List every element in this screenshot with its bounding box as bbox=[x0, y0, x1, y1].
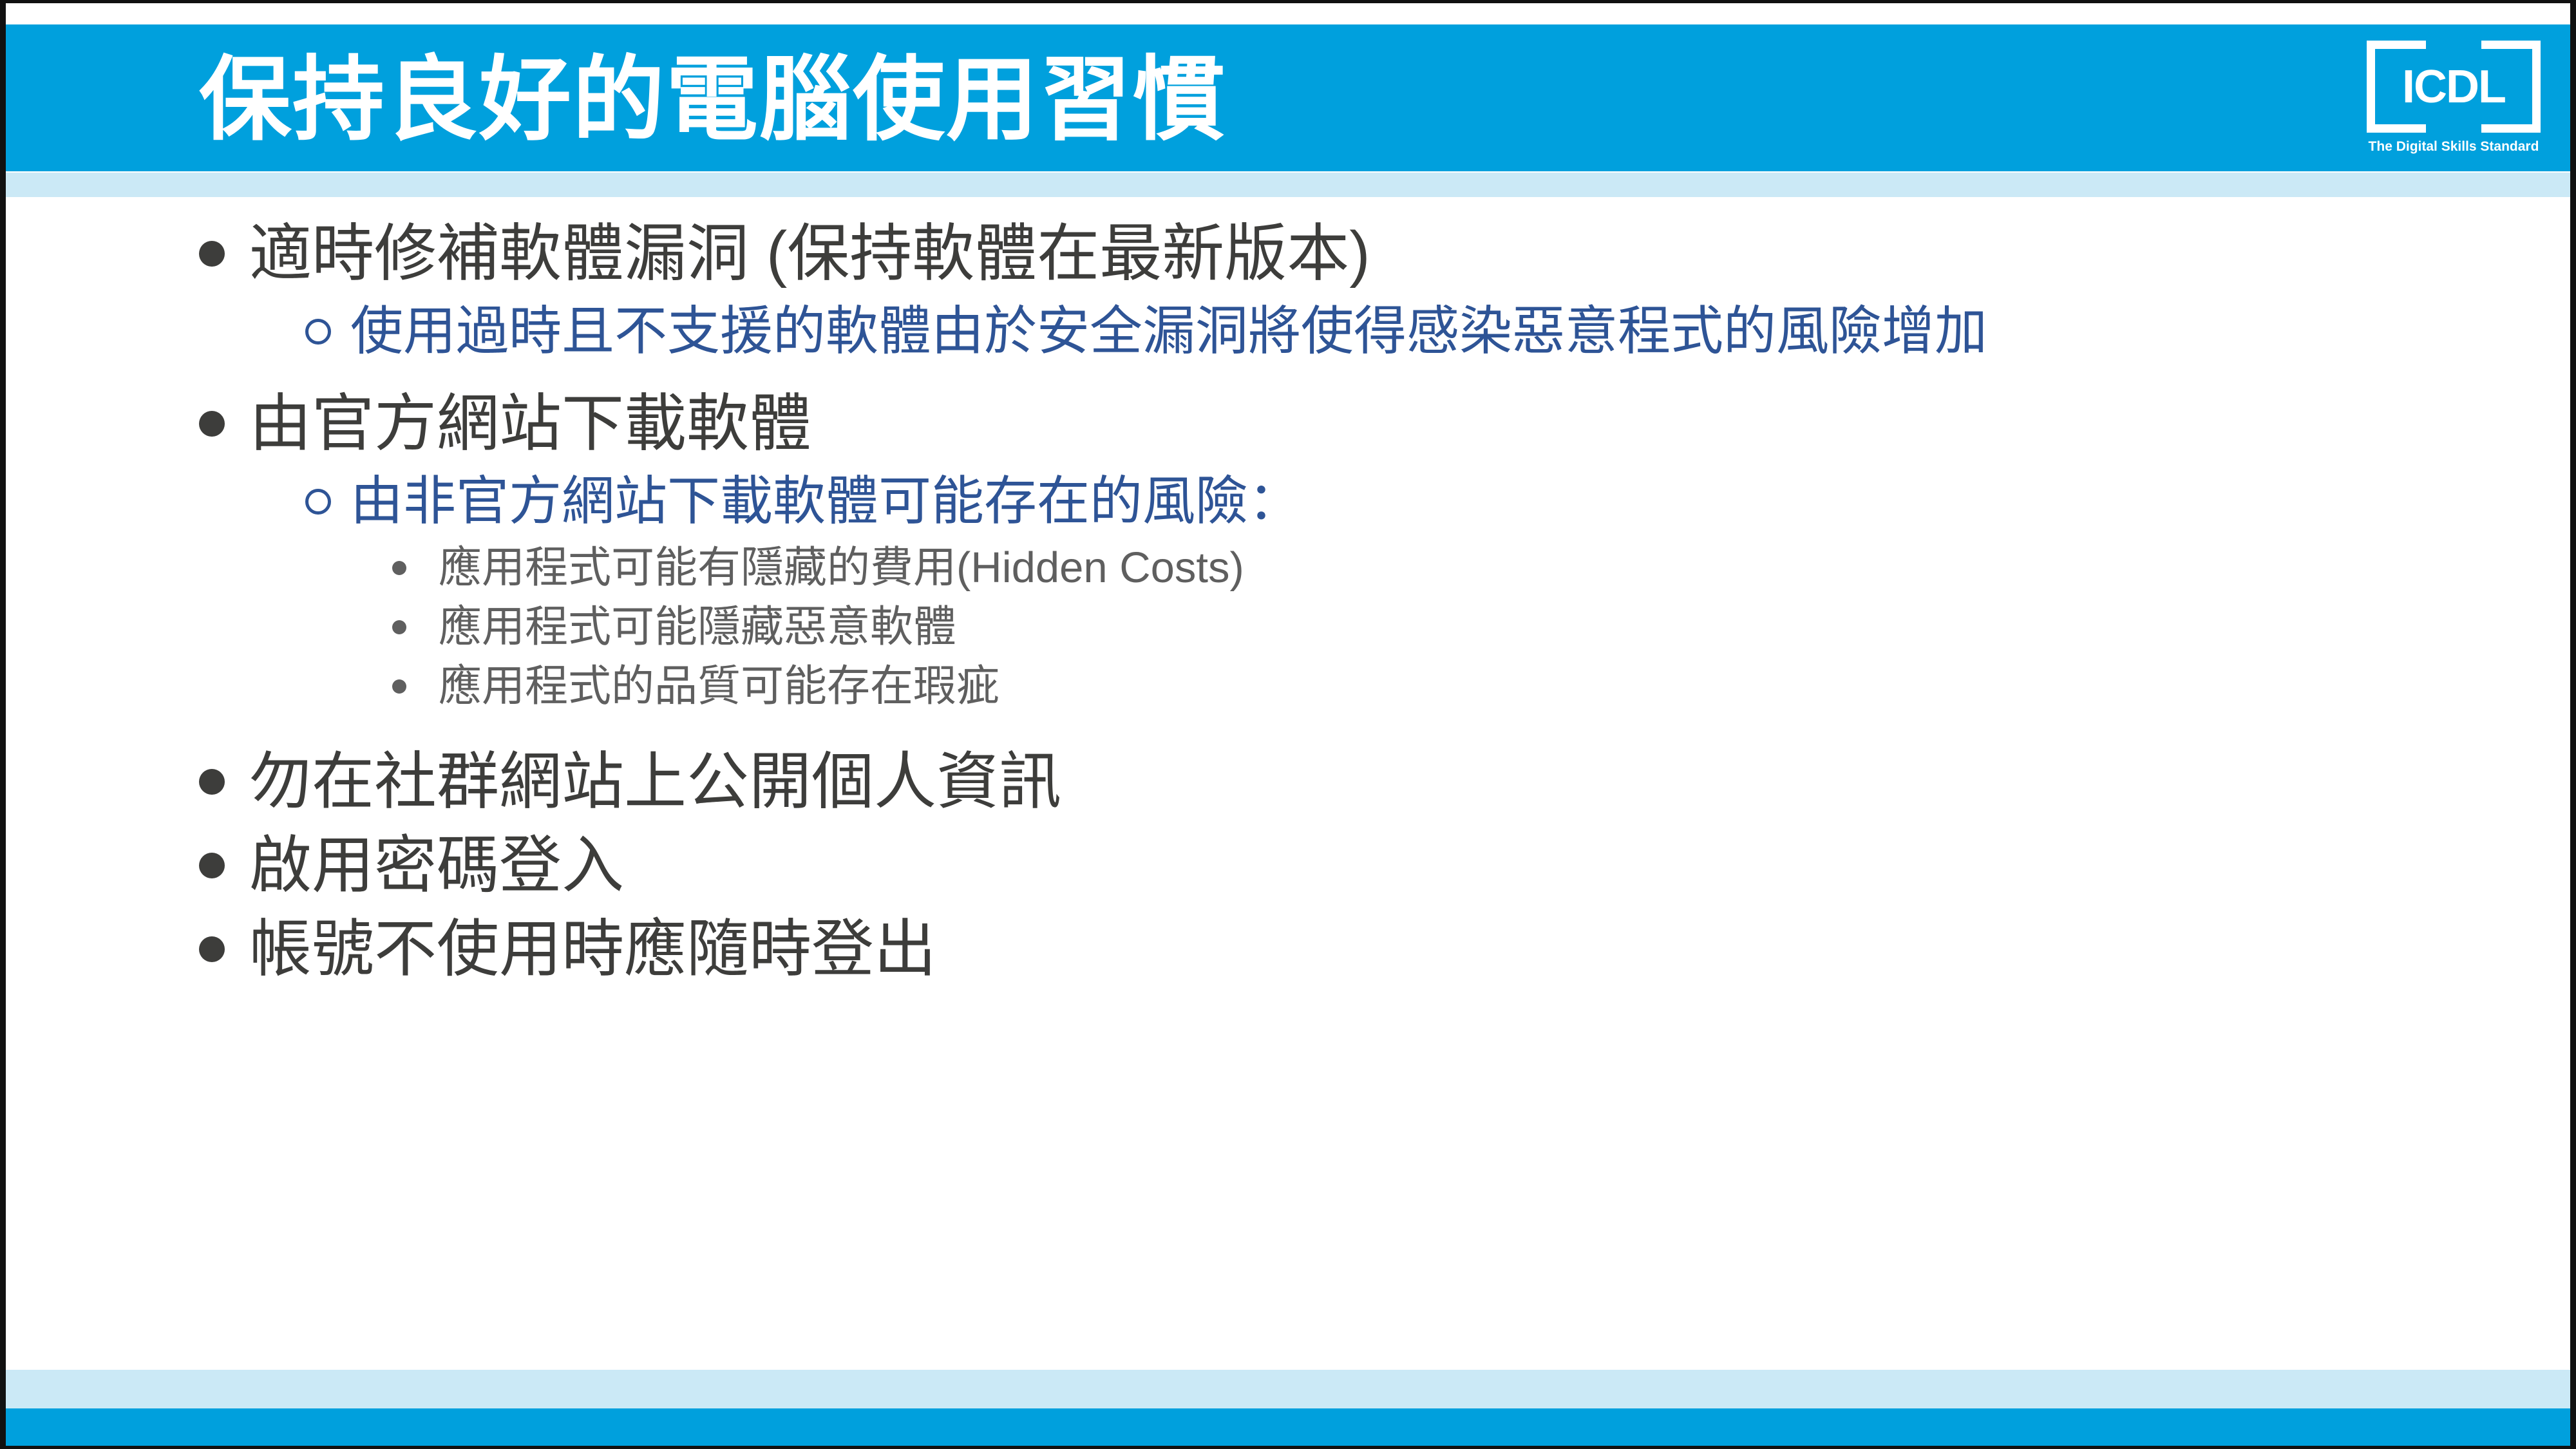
bullet-level2: 由非官方網站下載軟體可能存在的風險： bbox=[6, 469, 2576, 534]
icdl-logo: ICDL The Digital Skills Standard bbox=[2367, 41, 2541, 163]
bullet-hollow-circle-icon bbox=[305, 469, 350, 534]
bullet-filled-circle-icon bbox=[199, 386, 249, 462]
bullet-text: 由官方網站下載軟體 bbox=[249, 386, 811, 462]
bullet-text: 應用程式的品質可能存在瑕疵 bbox=[439, 659, 999, 714]
bullet-text: 勿在社群網站上公開個人資訊 bbox=[249, 744, 1061, 820]
slide-body: 適時修補軟體漏洞 (保持軟體在最新版本) 使用過時且不支援的軟體由於安全漏洞將使… bbox=[6, 216, 2576, 995]
bullet-small-dot-icon bbox=[392, 540, 439, 596]
bullet-hollow-circle-icon bbox=[305, 299, 350, 364]
bullet-filled-circle-icon bbox=[199, 216, 249, 292]
bullet-filled-circle-icon bbox=[199, 744, 249, 820]
icdl-wordmark: ICDL bbox=[2367, 41, 2541, 133]
bullet-text: 帳號不使用時應隨時登出 bbox=[249, 911, 936, 987]
bullet-filled-circle-icon bbox=[199, 828, 249, 904]
bullet-text: 啟用密碼登入 bbox=[249, 828, 624, 904]
bullet-text: 使用過時且不支援的軟體由於安全漏洞將使得感染惡意程式的風險增加 bbox=[350, 299, 1987, 364]
bullet-level3: 應用程式的品質可能存在瑕疵 bbox=[6, 659, 2576, 714]
bullet-level1: 適時修補軟體漏洞 (保持軟體在最新版本) bbox=[6, 216, 2576, 292]
page-title: 保持良好的電腦使用習慣 bbox=[199, 35, 2324, 164]
bullet-text: 適時修補軟體漏洞 (保持軟體在最新版本) bbox=[249, 216, 1370, 292]
bullet-text: 由非官方網站下載軟體可能存在的風險： bbox=[350, 469, 1301, 534]
bullet-level1: 帳號不使用時應隨時登出 bbox=[6, 911, 2576, 987]
bullet-level1: 由官方網站下載軟體 bbox=[6, 386, 2576, 462]
bullet-filled-circle-icon bbox=[199, 911, 249, 987]
footer-band bbox=[6, 1408, 2570, 1446]
bullet-level3: 應用程式可能隱藏惡意軟體 bbox=[6, 600, 2576, 655]
bullet-small-dot-icon bbox=[392, 659, 439, 714]
bullet-level1: 啟用密碼登入 bbox=[6, 828, 2576, 904]
bullet-level3: 應用程式可能有隱藏的費用(Hidden Costs) bbox=[6, 540, 2576, 596]
footer-accent-stripe bbox=[6, 1370, 2570, 1408]
bullet-small-dot-icon bbox=[392, 600, 439, 655]
bullet-text: 應用程式可能隱藏惡意軟體 bbox=[439, 600, 956, 655]
presentation-slide: 保持良好的電腦使用習慣 ICDL The Digital Skills Stan… bbox=[0, 0, 2576, 1449]
icdl-logo-mark: ICDL bbox=[2367, 41, 2541, 133]
bullet-level1: 勿在社群網站上公開個人資訊 bbox=[6, 744, 2576, 820]
bullet-text: 應用程式可能有隱藏的費用(Hidden Costs) bbox=[439, 540, 1244, 596]
bullet-level2: 使用過時且不支援的軟體由於安全漏洞將使得感染惡意程式的風險增加 bbox=[6, 299, 2576, 364]
icdl-tagline: The Digital Skills Standard bbox=[2367, 139, 2541, 155]
header-accent-stripe bbox=[6, 173, 2570, 197]
